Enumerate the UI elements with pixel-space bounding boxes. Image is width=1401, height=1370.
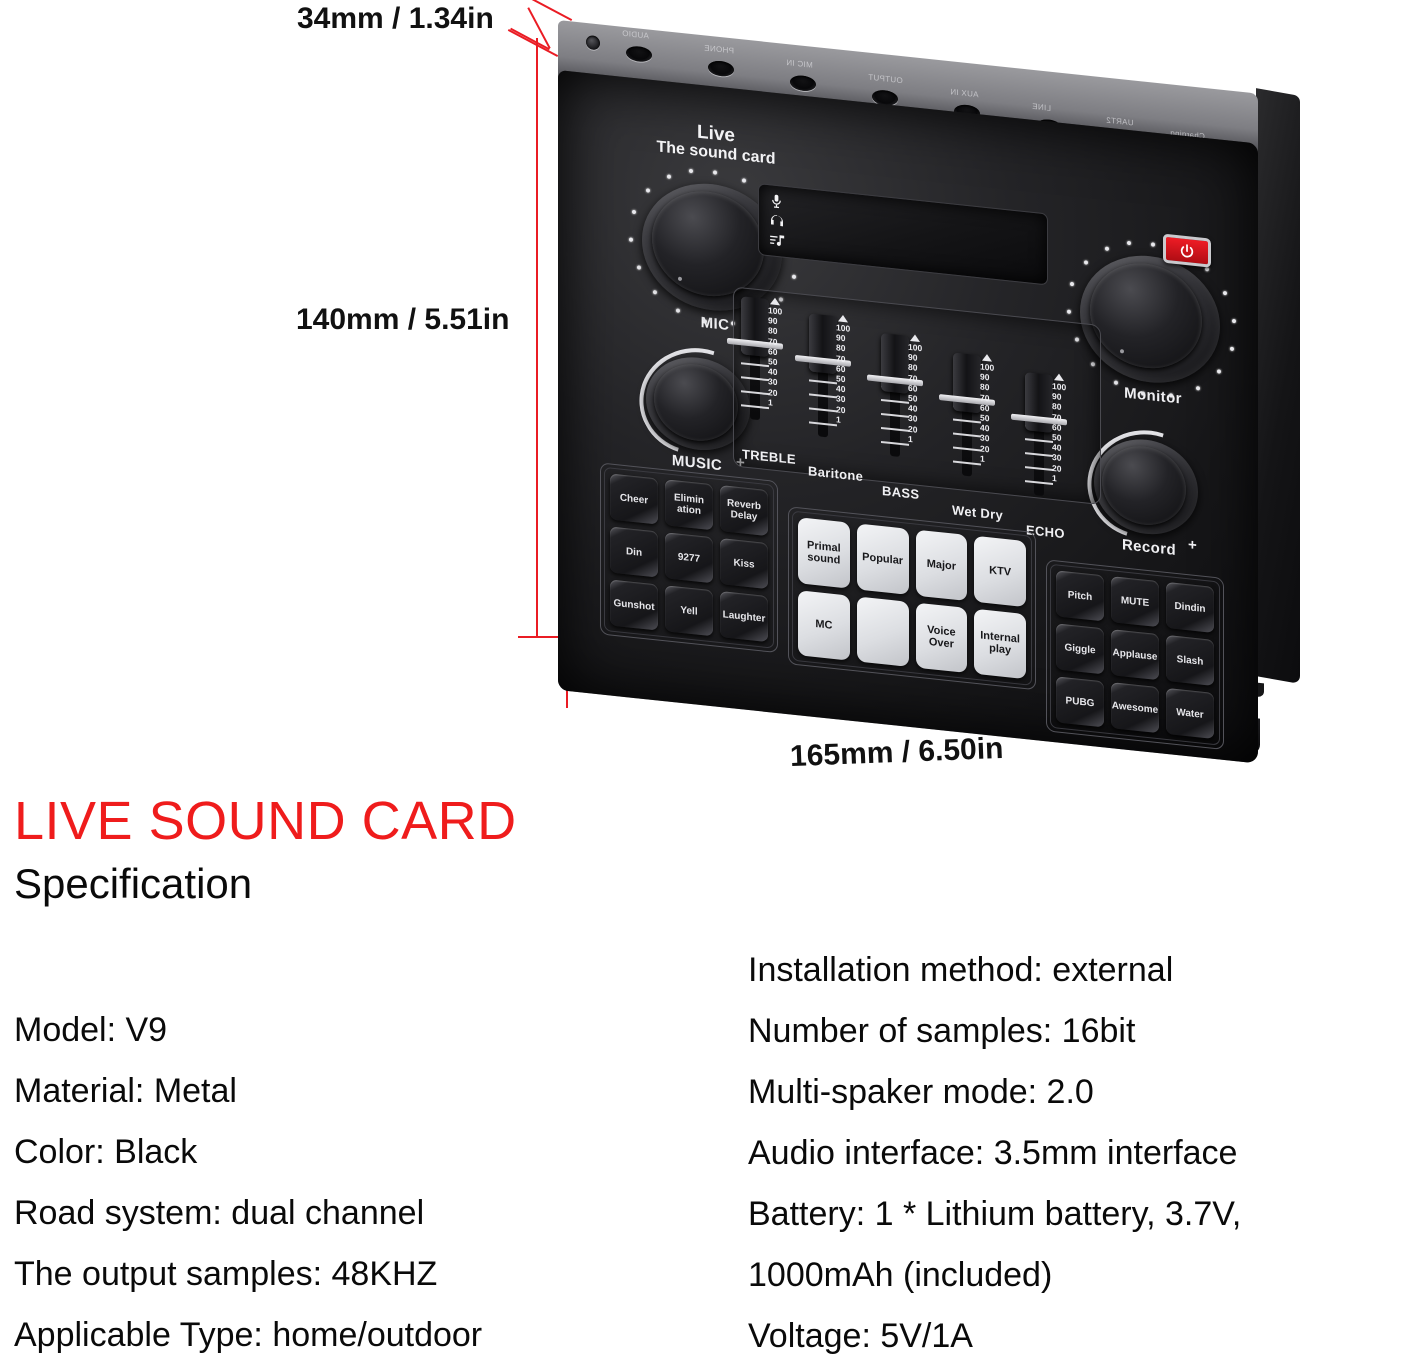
pad-button-applause[interactable]: Applause — [1111, 629, 1159, 680]
power-button[interactable] — [1163, 234, 1211, 268]
spec-voltage: Voltage: 5V/1A — [748, 1306, 1241, 1367]
mode-button-ktv[interactable]: KTV — [974, 536, 1026, 607]
pad-button-9277[interactable]: 9277 — [665, 532, 713, 583]
monitor-knob-cap[interactable] — [1090, 258, 1202, 374]
fader-echo[interactable]: 100 90 80 70 60 50 40 30 20 1 ECHO — [1022, 370, 1084, 552]
pad-button-cheer[interactable]: Cheer — [610, 473, 658, 524]
pad-button-dindin[interactable]: Dindin — [1166, 582, 1214, 633]
monitor-knob-indicator — [1120, 349, 1124, 353]
scale-arrow-icon — [910, 334, 920, 342]
spec-heading: Specification — [14, 860, 252, 908]
fader-baritone[interactable]: 100 90 80 70 60 50 40 30 20 1 Baritone — [806, 311, 868, 493]
fader-bass-label: BASS — [882, 483, 919, 502]
fader-bass[interactable]: 100 90 80 70 60 50 40 30 20 1 BASS — [878, 331, 940, 513]
fader-wet-dry-label: Wet Dry — [952, 502, 1003, 522]
sound-card-device: AUDIO PHONE MIC IN OUTPUT AUX IN LINE UA… — [540, 20, 1300, 740]
center-mode-grid: Primalsound Popular Major KTV MC VoiceOv… — [798, 517, 1026, 679]
height-dimension-label: 140mm / 5.51in — [296, 303, 509, 337]
fader-baritone-scale: 100 90 80 70 60 50 40 30 20 1 — [836, 314, 866, 427]
fader-bass-handle[interactable] — [881, 333, 909, 394]
pad-button-slash[interactable]: Slash — [1166, 635, 1214, 686]
spec-multi-speaker-mode: Multi-spaker mode: 2.0 — [748, 1062, 1241, 1123]
fader-baritone-label: Baritone — [808, 463, 863, 484]
record-knob-cap[interactable] — [1102, 442, 1186, 529]
screw-icon — [586, 35, 600, 50]
left-effects-grid: Cheer Elimination ReverbDelay Din 9277 K… — [610, 473, 768, 642]
brand-block: Live The sound card — [646, 117, 786, 169]
mode-button-voice-over[interactable]: VoiceOver — [916, 602, 968, 673]
pad-button-yell[interactable]: Yell — [665, 585, 713, 636]
port-label-output: OUTPUT — [868, 73, 903, 86]
scale-arrow-icon — [838, 314, 848, 322]
left-effects-panel: Cheer Elimination ReverbDelay Din 9277 K… — [600, 462, 778, 653]
port-audio[interactable] — [626, 45, 652, 63]
fader-treble-scale: 100 90 80 70 60 50 40 30 20 1 — [768, 297, 798, 410]
pad-button-awesome[interactable]: Awesome — [1111, 682, 1159, 733]
port-mic-in[interactable] — [790, 74, 816, 92]
pad-button-din[interactable]: Din — [610, 526, 658, 577]
center-mode-panel: Primalsound Popular Major KTV MC VoiceOv… — [788, 506, 1036, 690]
spec-audio-interface: Audio interface: 3.5mm interface — [748, 1123, 1241, 1184]
spec-model: Model: V9 — [14, 1000, 482, 1061]
power-icon — [1179, 242, 1195, 260]
spec-list-right: Installation method: external Number of … — [748, 940, 1241, 1367]
pad-button-elimination[interactable]: Elimination — [665, 479, 713, 530]
pad-button-giggle[interactable]: Giggle — [1056, 623, 1104, 674]
scale-1: 1 — [908, 434, 938, 447]
fader-echo-handle[interactable] — [1025, 372, 1053, 433]
scale-arrow-icon — [982, 354, 992, 362]
pad-button-mute[interactable]: MUTE — [1111, 576, 1159, 627]
height-caliper-line — [536, 38, 538, 638]
fader-wet-dry-handle[interactable] — [953, 353, 981, 414]
mode-button-major[interactable]: Major — [916, 530, 968, 601]
monitor-knob-ring[interactable] — [1080, 249, 1220, 390]
mic-knob-cap[interactable] — [652, 186, 764, 302]
pad-button-laughter[interactable]: Laughter — [720, 591, 768, 642]
fader-wet-dry[interactable]: 100 90 80 70 60 50 40 30 20 1 Wet Dry — [950, 350, 1012, 532]
equalizer-fader-module: 100 90 80 70 60 50 40 30 20 1 TREBLE — [733, 286, 1101, 505]
mode-button-internal-play[interactable]: Internalplay — [974, 608, 1026, 679]
mode-button-mc[interactable]: MC — [798, 590, 850, 661]
pad-button-reverb-delay[interactable]: ReverbDelay — [720, 485, 768, 536]
device-front-face: Live The sound card MIC — [558, 70, 1258, 764]
mode-button-popular[interactable]: Popular — [857, 523, 909, 594]
port-label-uart2: UART2 — [1106, 116, 1134, 128]
scale-1: 1 — [1052, 473, 1082, 486]
music-note-icon — [769, 232, 786, 255]
monitor-knob-dot-ring — [1058, 233, 1248, 253]
mode-button-primal-sound[interactable]: Primalsound — [798, 517, 850, 588]
device-right-side-panel — [1256, 88, 1300, 684]
record-knob-plus: + — [1188, 536, 1197, 554]
right-effects-panel: Pitch MUTE Dindin Giggle Applause Slash … — [1046, 559, 1224, 750]
port-label-aux-in: AUX IN — [950, 87, 978, 99]
right-effects-grid: Pitch MUTE Dindin Giggle Applause Slash … — [1056, 570, 1214, 739]
fader-treble-label: TREBLE — [742, 446, 796, 467]
spec-battery: Battery: 1 * Lithium battery, 3.7V, — [748, 1184, 1241, 1245]
thickness-dimension-label: 34mm / 1.34in — [297, 2, 494, 36]
port-label-line: LINE — [1032, 102, 1051, 113]
pad-button-pubg[interactable]: PUBG — [1056, 676, 1104, 727]
pad-button-water[interactable]: Water — [1166, 688, 1214, 739]
scale-arrow-icon — [770, 297, 780, 305]
spec-output-samples: The output samples: 48KHZ — [14, 1244, 482, 1305]
spec-applicable-type: Applicable Type: home/outdoor — [14, 1305, 482, 1366]
spec-list-left: Model: V9 Material: Metal Color: Black R… — [14, 1000, 482, 1366]
port-label-mic-in: MIC IN — [786, 58, 813, 70]
music-knob-cap[interactable] — [654, 360, 738, 445]
fader-treble-handle[interactable] — [741, 296, 769, 357]
mic-knob-indicator — [678, 277, 682, 281]
scale-arrow-icon — [1054, 373, 1064, 381]
spec-installation-method: Installation method: external — [748, 940, 1241, 1001]
fader-treble[interactable]: 100 90 80 70 60 50 40 30 20 1 TREBLE — [738, 294, 800, 476]
spec-battery-cont: 1000mAh (included) — [748, 1245, 1241, 1306]
scale-1: 1 — [768, 397, 798, 410]
port-label-phone: PHONE — [704, 43, 734, 55]
fader-echo-scale: 100 90 80 70 60 50 40 30 20 1 — [1052, 373, 1082, 486]
mode-button-blank[interactable] — [857, 596, 909, 667]
scale-1: 1 — [980, 453, 1010, 466]
fader-baritone-handle[interactable] — [809, 313, 837, 374]
fader-wet-dry-scale: 100 90 80 70 60 50 40 30 20 1 — [980, 353, 1010, 466]
pad-button-gunshot[interactable]: Gunshot — [610, 579, 658, 630]
spec-number-of-samples: Number of samples: 16bit — [748, 1001, 1241, 1062]
pad-button-pitch[interactable]: Pitch — [1056, 570, 1104, 621]
fader-bass-scale: 100 90 80 70 60 50 40 30 20 1 — [908, 334, 938, 447]
scale-1: 1 — [836, 414, 866, 427]
spec-road-system: Road system: dual channel — [14, 1183, 482, 1244]
port-label-audio: AUDIO — [622, 29, 649, 41]
spec-color: Color: Black — [14, 1122, 482, 1183]
page-title: LIVE SOUND CARD — [14, 790, 517, 852]
port-phone[interactable] — [708, 60, 734, 78]
spec-material: Material: Metal — [14, 1061, 482, 1122]
pad-button-kiss[interactable]: Kiss — [720, 538, 768, 589]
